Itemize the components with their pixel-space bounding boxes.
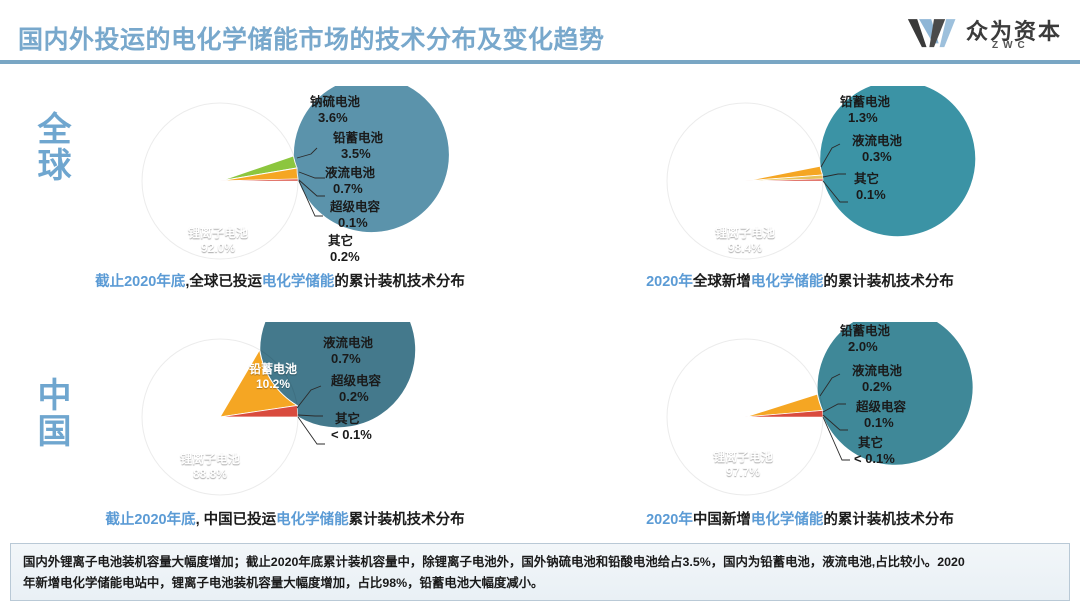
row-label-china-char2: 国 bbox=[10, 414, 100, 450]
pie1-callout-other: 其它 0.2% bbox=[328, 230, 360, 264]
pie4-callout-supercap-value: 0.1% bbox=[864, 415, 906, 430]
caption-global-new: 2020年全球新增电化学储能的累计装机技术分布 bbox=[590, 270, 1010, 291]
chart-global-new: 锂离子电池 98.4% 铅蓄电池 1.3% 液流电池 0.3% 其它 0.1% bbox=[650, 86, 980, 276]
pie4-callout-other: 其它 < 0.1% bbox=[858, 432, 895, 466]
pie3-callout-flow-value: 0.7% bbox=[331, 351, 373, 366]
pie1-callout-lead: 铅蓄电池 3.5% bbox=[333, 127, 383, 161]
row-label-global-char2: 球 bbox=[10, 148, 100, 184]
pie1-callout-flow: 液流电池 0.7% bbox=[325, 162, 375, 196]
pie1-callout-sodium-name: 钠硫电池 bbox=[310, 91, 360, 110]
pie4-callout-flow-value: 0.2% bbox=[862, 379, 902, 394]
pie2-leaders bbox=[650, 86, 980, 276]
pie4-leaders bbox=[650, 322, 980, 512]
pie3-callout-supercap: 超级电容 0.2% bbox=[331, 370, 381, 404]
caption3-part1: , 中国已投运 bbox=[196, 512, 277, 528]
caption3-part0: 截止2020年底 bbox=[105, 512, 195, 528]
pie1-callout-supercap: 超级电容 0.1% bbox=[330, 196, 380, 230]
pie4-callout-lead-name: 铅蓄电池 bbox=[840, 320, 890, 339]
pie2-callout-lead-value: 1.3% bbox=[848, 110, 890, 125]
caption1-part2: 电化学储能 bbox=[262, 274, 335, 290]
caption1-part1: ,全球已投运 bbox=[185, 274, 262, 290]
pie1-callout-other-value: 0.2% bbox=[330, 249, 360, 264]
pie2-callout-lead-name: 铅蓄电池 bbox=[840, 91, 890, 110]
pie4-callout-flow: 液流电池 0.2% bbox=[852, 360, 902, 394]
pie3-callout-other-value: < 0.1% bbox=[331, 427, 372, 442]
pie4-callout-other-value: < 0.1% bbox=[854, 451, 895, 466]
pie4-callout-other-name: 其它 bbox=[858, 432, 895, 451]
caption4-part0: 2020年 bbox=[646, 512, 693, 528]
pie-china-new: 锂离子电池 97.7% bbox=[650, 322, 980, 512]
caption3-part3: 累计装机技术分布 bbox=[349, 512, 465, 528]
zwc-logo-mark bbox=[906, 16, 962, 52]
caption3-part2: 电化学储能 bbox=[276, 512, 349, 528]
caption2-part0: 2020年 bbox=[646, 274, 693, 290]
pie-global-cumulative: 锂离子电池 92.0% bbox=[125, 86, 455, 276]
pie1-callout-sodium: 钠硫电池 3.6% bbox=[310, 91, 360, 125]
caption1-part3: 的累计装机技术分布 bbox=[334, 274, 465, 290]
pie4-callout-supercap: 超级电容 0.1% bbox=[856, 396, 906, 430]
header-divider bbox=[0, 60, 1080, 64]
caption2-part2: 电化学储能 bbox=[751, 274, 824, 290]
caption4-part2: 电化学储能 bbox=[751, 512, 824, 528]
footnote-box: 国内外锂离子电池装机容量大幅度增加；截止2020年底累计装机容量中，除锂离子电池… bbox=[10, 543, 1070, 601]
pie1-leaders bbox=[125, 86, 455, 276]
pie3-callout-flow: 液流电池 0.7% bbox=[323, 332, 373, 366]
page-title: 国内外投运的电化学储能市场的技术分布及变化趋势 bbox=[18, 20, 605, 56]
pie1-callout-lead-name: 铅蓄电池 bbox=[333, 127, 383, 146]
pie1-callout-flow-value: 0.7% bbox=[333, 181, 375, 196]
caption2-part3: 的累计装机技术分布 bbox=[823, 274, 954, 290]
pie3-callout-supercap-value: 0.2% bbox=[339, 389, 381, 404]
caption2-part1: 全球新增 bbox=[693, 274, 751, 290]
pie1-callout-supercap-name: 超级电容 bbox=[330, 196, 380, 215]
chart-global-cumulative: 锂离子电池 92.0% 钠硫电池 3.6% 铅蓄电池 3.5% 液流电池 0.7… bbox=[125, 86, 455, 276]
pie2-callout-other-name: 其它 bbox=[854, 168, 886, 187]
footnote-line-2: 年新增电化学储能电站中，锂离子电池装机容量大幅度增加，占比98%，铅蓄电池大幅度… bbox=[23, 573, 1057, 594]
logo-text-en: ZWC bbox=[992, 40, 1030, 51]
slide-root: 国内外投运的电化学储能市场的技术分布及变化趋势 众为资本 ZWC 全 球 中 国 bbox=[0, 0, 1080, 608]
pie4-callout-lead-value: 2.0% bbox=[848, 339, 890, 354]
pie1-callout-lead-value: 3.5% bbox=[341, 146, 383, 161]
chart-china-cumulative: 锂离子电池 88.8% 铅蓄电池 10.2% 液流电池 0.7% 超级电容 0.… bbox=[125, 322, 455, 512]
pie3-callout-supercap-name: 超级电容 bbox=[331, 370, 381, 389]
pie1-callout-flow-name: 液流电池 bbox=[325, 162, 375, 181]
pie1-callout-other-name: 其它 bbox=[328, 230, 360, 249]
row-label-global: 全 球 bbox=[10, 112, 100, 184]
row-label-china: 中 国 bbox=[10, 378, 100, 450]
caption-china-new: 2020年中国新增电化学储能的累计装机技术分布 bbox=[580, 508, 1020, 529]
pie2-callout-flow-name: 液流电池 bbox=[852, 130, 902, 149]
slide-header: 国内外投运的电化学储能市场的技术分布及变化趋势 众为资本 ZWC bbox=[0, 0, 1080, 62]
pie3-callout-other-name: 其它 bbox=[335, 408, 372, 427]
caption-global-cumulative: 截止2020年底,全球已投运电化学储能的累计装机技术分布 bbox=[70, 270, 490, 291]
pie2-callout-flow: 液流电池 0.3% bbox=[852, 130, 902, 164]
row-label-global-char1: 全 bbox=[10, 112, 100, 148]
footnote-line-1: 国内外锂离子电池装机容量大幅度增加；截止2020年底累计装机容量中，除锂离子电池… bbox=[23, 552, 1057, 573]
pie1-callout-supercap-value: 0.1% bbox=[338, 215, 380, 230]
pie2-callout-other: 其它 0.1% bbox=[854, 168, 886, 202]
company-logo: 众为资本 ZWC bbox=[906, 14, 1066, 58]
pie2-callout-flow-value: 0.3% bbox=[862, 149, 902, 164]
pie3-callout-flow-name: 液流电池 bbox=[323, 332, 373, 351]
chart-china-new: 锂离子电池 97.7% 铅蓄电池 2.0% 液流电池 0.2% 超级电容 0.1… bbox=[650, 322, 980, 512]
pie4-callout-flow-name: 液流电池 bbox=[852, 360, 902, 379]
pie4-callout-lead: 铅蓄电池 2.0% bbox=[840, 320, 890, 354]
caption4-part1: 中国新增 bbox=[693, 512, 751, 528]
pie-china-cumulative: 锂离子电池 88.8% 铅蓄电池 10.2% bbox=[125, 322, 455, 512]
pie4-callout-supercap-name: 超级电容 bbox=[856, 396, 906, 415]
pie3-callout-other: 其它 < 0.1% bbox=[335, 408, 372, 442]
pie2-callout-lead: 铅蓄电池 1.3% bbox=[840, 91, 890, 125]
pie3-leaders bbox=[125, 322, 455, 512]
caption4-part3: 的累计装机技术分布 bbox=[823, 512, 954, 528]
caption1-part0: 截止2020年底 bbox=[95, 274, 185, 290]
pie1-callout-sodium-value: 3.6% bbox=[318, 110, 360, 125]
row-label-china-char1: 中 bbox=[10, 378, 100, 414]
pie-global-new: 锂离子电池 98.4% bbox=[650, 86, 980, 276]
pie2-callout-other-value: 0.1% bbox=[856, 187, 886, 202]
caption-china-cumulative: 截止2020年底, 中国已投运电化学储能累计装机技术分布 bbox=[70, 508, 500, 529]
